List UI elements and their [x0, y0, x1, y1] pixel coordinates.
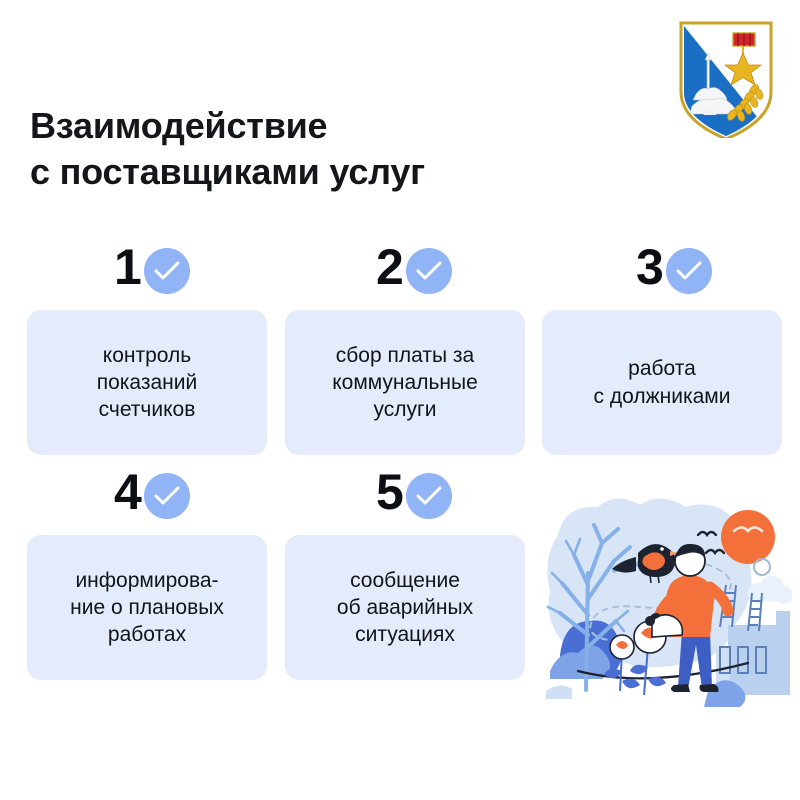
check-circle-4 — [144, 473, 190, 519]
step-card-2-text: сбор платы за коммунальные услуги — [332, 342, 478, 424]
step-card-5-text: сообщение об аварийных ситуациях — [337, 567, 473, 649]
step-card-4-text: информирова- ние о плановых работах — [70, 567, 224, 649]
check-circle-5 — [406, 473, 452, 519]
page-title-line-2: с поставщиками услуг — [30, 149, 590, 195]
check-icon — [415, 485, 443, 507]
check-icon — [153, 260, 181, 282]
sun — [721, 510, 775, 564]
step-card-3: работа с должниками — [542, 310, 782, 455]
step-card-2: сбор платы за коммунальные услуги — [285, 310, 525, 455]
step-card-3-text: работа с должниками — [594, 355, 731, 410]
step-badge-3: 3 — [632, 246, 728, 308]
step-number-2: 2 — [376, 242, 404, 292]
infographic-page: Взаимодействие с поставщиками услуг 1 2 … — [0, 0, 800, 800]
check-icon — [675, 260, 703, 282]
check-circle-3 — [666, 248, 712, 294]
step-number-4: 4 — [114, 467, 142, 517]
check-circle-1 — [144, 248, 190, 294]
step-card-1-text: контроль показаний счетчиков — [97, 342, 198, 424]
step-number-3: 3 — [636, 242, 664, 292]
page-title: Взаимодействие с поставщиками услуг — [30, 103, 590, 195]
step-badge-2: 2 — [372, 246, 468, 308]
step-badge-1: 1 — [110, 246, 206, 308]
step-number-1: 1 — [114, 242, 142, 292]
step-card-1: контроль показаний счетчиков — [27, 310, 267, 455]
page-title-line-1: Взаимодействие — [30, 103, 590, 149]
step-number-5: 5 — [376, 467, 404, 517]
step-card-5: сообщение об аварийных ситуациях — [285, 535, 525, 680]
check-circle-2 — [406, 248, 452, 294]
people-nature-illustration-icon — [540, 495, 792, 717]
step-badge-5: 5 — [372, 471, 468, 533]
sevastopol-coat-of-arms-icon — [678, 20, 774, 138]
step-card-4: информирова- ние о плановых работах — [27, 535, 267, 680]
step-badge-4: 4 — [110, 471, 206, 533]
check-icon — [153, 485, 181, 507]
check-icon — [415, 260, 443, 282]
